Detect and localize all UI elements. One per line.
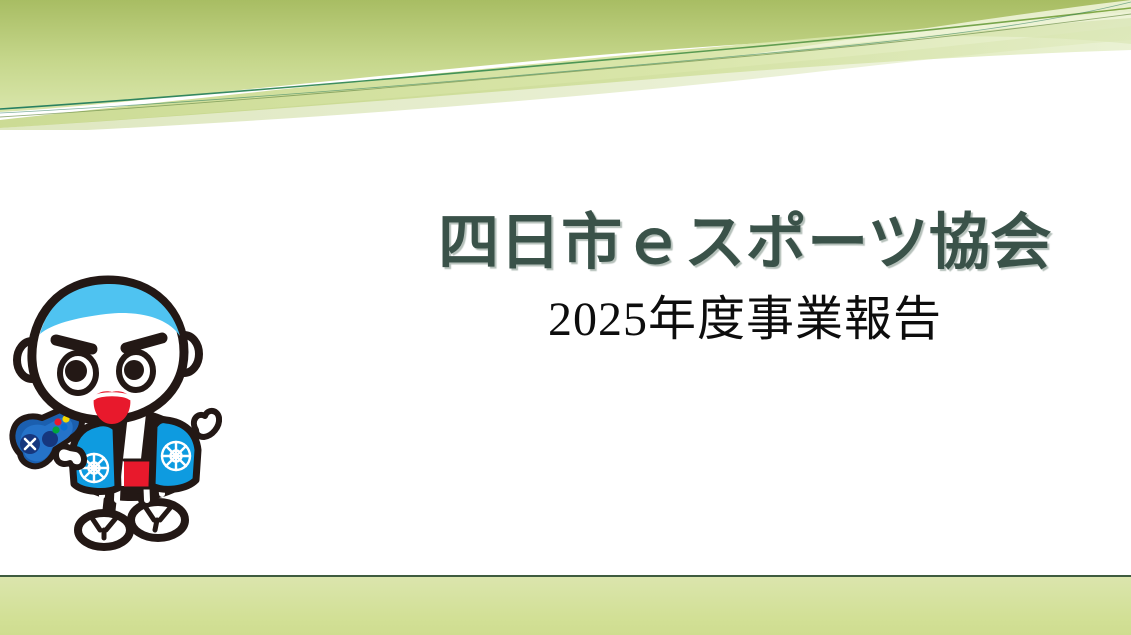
title-block: 四日市ｅスポーツ協会 2025年度事業報告 bbox=[415, 210, 1075, 347]
page-subtitle: 2025年度事業報告 bbox=[415, 294, 1075, 347]
mascot-image bbox=[0, 272, 240, 564]
green-footer-band bbox=[0, 577, 1131, 635]
green-ribbon-swoosh-icon bbox=[0, 0, 1131, 130]
presentation-slide: 四日市ｅスポーツ協会 2025年度事業報告 bbox=[0, 0, 1131, 635]
page-title: 四日市ｅスポーツ協会 bbox=[415, 210, 1075, 274]
